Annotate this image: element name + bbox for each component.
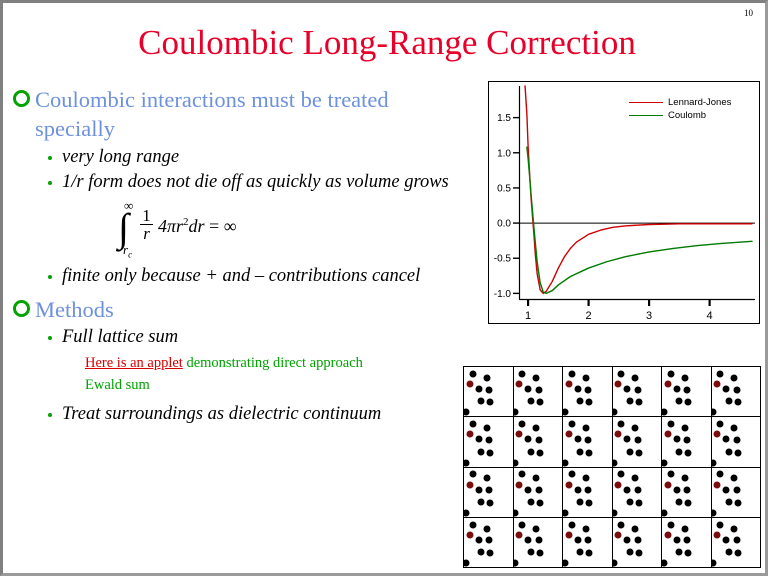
lattice-cell bbox=[514, 518, 564, 568]
atom bbox=[712, 409, 717, 416]
tagged-atom bbox=[565, 531, 572, 538]
atom bbox=[676, 448, 683, 455]
atom bbox=[486, 487, 493, 494]
atom bbox=[618, 521, 625, 528]
atom bbox=[723, 386, 730, 393]
x-axis-tick-label: 2 bbox=[586, 310, 592, 322]
atom bbox=[563, 509, 568, 516]
atom bbox=[536, 550, 543, 557]
lattice-cell bbox=[662, 417, 712, 467]
atom bbox=[613, 509, 618, 516]
lattice-cell bbox=[514, 417, 564, 467]
bullet-level2-label: Full lattice sum bbox=[62, 326, 178, 349]
atom bbox=[586, 550, 593, 557]
potential-energy-chart: 1.51.00.50.0-0.5-1.01234 Lennard-JonesCo… bbox=[488, 81, 760, 324]
tagged-atom bbox=[516, 531, 523, 538]
bullet-level1-methods: Methods bbox=[13, 295, 463, 324]
atom bbox=[585, 537, 592, 544]
atom bbox=[514, 560, 519, 567]
tagged-atom bbox=[565, 381, 572, 388]
atom bbox=[635, 499, 642, 506]
atom bbox=[475, 486, 482, 493]
atom bbox=[514, 459, 519, 466]
atom bbox=[525, 486, 532, 493]
ring-bullet-icon bbox=[13, 90, 30, 107]
equation-term: 4πr bbox=[158, 216, 183, 236]
atom bbox=[717, 521, 724, 528]
atom bbox=[478, 448, 485, 455]
atom bbox=[514, 509, 519, 516]
atom bbox=[535, 436, 542, 443]
atom bbox=[487, 550, 494, 557]
atom bbox=[733, 386, 740, 393]
tagged-atom bbox=[615, 431, 622, 438]
atom bbox=[527, 549, 534, 556]
atom bbox=[533, 425, 540, 432]
atom bbox=[586, 399, 593, 406]
atom bbox=[618, 471, 625, 478]
legend-color-swatch bbox=[629, 115, 663, 116]
periodic-replica-lattice bbox=[463, 366, 761, 568]
lattice-cell bbox=[662, 468, 712, 518]
atom bbox=[577, 549, 584, 556]
atom bbox=[585, 386, 592, 393]
tagged-atom bbox=[615, 481, 622, 488]
atom bbox=[667, 421, 674, 428]
atom bbox=[577, 448, 584, 455]
chart-legend: Lennard-JonesCoulomb bbox=[629, 96, 731, 122]
atom bbox=[676, 498, 683, 505]
y-axis-tick-label: -1.0 bbox=[494, 289, 512, 300]
atom bbox=[734, 550, 741, 557]
lattice-cell bbox=[613, 468, 663, 518]
atom bbox=[733, 436, 740, 443]
atom bbox=[475, 436, 482, 443]
tagged-atom bbox=[516, 481, 523, 488]
atom bbox=[582, 425, 589, 432]
lattice-cell bbox=[662, 367, 712, 417]
atom bbox=[563, 409, 568, 416]
atom bbox=[478, 549, 485, 556]
atom bbox=[536, 499, 543, 506]
atom bbox=[725, 498, 732, 505]
dot-bullet-icon bbox=[48, 181, 52, 185]
atom bbox=[519, 471, 526, 478]
atom bbox=[535, 386, 542, 393]
lattice-cell bbox=[563, 417, 613, 467]
equation-result: ∞ bbox=[224, 216, 237, 236]
bullet-level1-coulombic: Coulombic interactions must be treated s… bbox=[13, 85, 463, 144]
tagged-atom bbox=[714, 481, 721, 488]
atom bbox=[624, 486, 631, 493]
atom bbox=[582, 374, 589, 381]
atom bbox=[723, 486, 730, 493]
tagged-atom bbox=[714, 531, 721, 538]
atom bbox=[487, 449, 494, 456]
atom bbox=[634, 537, 641, 544]
equation-lower-limit: rc bbox=[123, 242, 132, 260]
atom bbox=[684, 487, 691, 494]
atom bbox=[635, 550, 642, 557]
atom bbox=[568, 471, 575, 478]
atom bbox=[582, 525, 589, 532]
atom bbox=[667, 370, 674, 377]
bullet-level2-label: finite only because + and – contribution… bbox=[62, 265, 420, 288]
atom bbox=[733, 487, 740, 494]
atom bbox=[574, 386, 581, 393]
bullet-level2-label: Treat surroundings as dielectric continu… bbox=[62, 403, 381, 426]
tagged-atom bbox=[565, 431, 572, 438]
atom bbox=[685, 449, 692, 456]
applet-line: Here is an applet demonstrating direct a… bbox=[13, 352, 463, 374]
bullet-level1-label: Methods bbox=[35, 295, 114, 324]
atom bbox=[725, 549, 732, 556]
tagged-atom bbox=[615, 381, 622, 388]
applet-hyperlink[interactable]: Here is an applet bbox=[85, 355, 183, 371]
atom bbox=[731, 475, 738, 482]
dot-bullet-icon bbox=[48, 275, 52, 279]
atom bbox=[586, 499, 593, 506]
atom bbox=[626, 398, 633, 405]
atom bbox=[535, 487, 542, 494]
atom bbox=[574, 436, 581, 443]
tagged-atom bbox=[466, 381, 473, 388]
atom bbox=[525, 536, 532, 543]
atom bbox=[723, 536, 730, 543]
atom bbox=[577, 498, 584, 505]
lattice-cell bbox=[514, 468, 564, 518]
legend-item: Lennard-Jones bbox=[629, 96, 731, 109]
legend-color-swatch bbox=[629, 102, 663, 103]
atom bbox=[486, 537, 493, 544]
lattice-cell bbox=[514, 367, 564, 417]
legend-item: Coulomb bbox=[629, 109, 731, 122]
page-title: Coulombic Long-Range Correction bbox=[3, 23, 768, 63]
atom bbox=[533, 525, 540, 532]
atom bbox=[519, 370, 526, 377]
atom bbox=[717, 370, 724, 377]
atom bbox=[624, 386, 631, 393]
atom bbox=[685, 550, 692, 557]
atom bbox=[712, 509, 717, 516]
tagged-atom bbox=[516, 431, 523, 438]
atom bbox=[533, 475, 540, 482]
x-axis-tick-label: 3 bbox=[646, 310, 652, 322]
atom bbox=[618, 421, 625, 428]
lattice-cell bbox=[563, 367, 613, 417]
applet-line-rest: demonstrating direct approach bbox=[183, 355, 363, 371]
atom bbox=[626, 448, 633, 455]
atom bbox=[681, 525, 688, 532]
y-axis-tick-label: -0.5 bbox=[494, 254, 512, 265]
series-line-coulomb bbox=[527, 147, 752, 293]
atom bbox=[662, 509, 667, 516]
atom bbox=[469, 521, 476, 528]
atom bbox=[734, 399, 741, 406]
atom bbox=[464, 560, 469, 567]
lattice-cell bbox=[712, 417, 762, 467]
atom bbox=[681, 374, 688, 381]
atom bbox=[563, 560, 568, 567]
lattice-cell bbox=[712, 367, 762, 417]
atom bbox=[574, 486, 581, 493]
atom bbox=[624, 436, 631, 443]
y-axis-tick-label: 0.5 bbox=[497, 183, 511, 194]
atom bbox=[624, 536, 631, 543]
atom bbox=[478, 398, 485, 405]
lattice-cell bbox=[662, 518, 712, 568]
equation-fraction: 1 r bbox=[140, 207, 153, 243]
atom bbox=[586, 449, 593, 456]
slide-body: Coulombic interactions must be treated s… bbox=[13, 85, 463, 428]
atom bbox=[731, 374, 738, 381]
atom bbox=[685, 499, 692, 506]
atom bbox=[527, 398, 534, 405]
atom bbox=[673, 536, 680, 543]
atom bbox=[731, 525, 738, 532]
atom bbox=[673, 486, 680, 493]
atom bbox=[676, 549, 683, 556]
ewald-sum-line: Ewald sum bbox=[13, 374, 463, 396]
tagged-atom bbox=[664, 531, 671, 538]
legend-label: Coulomb bbox=[668, 110, 706, 121]
atom bbox=[676, 398, 683, 405]
atom bbox=[662, 560, 667, 567]
lattice-cell bbox=[563, 468, 613, 518]
atom bbox=[469, 471, 476, 478]
atom bbox=[733, 537, 740, 544]
lattice-cell bbox=[613, 367, 663, 417]
bullet-level2-one-over-r: 1/r form does not die off as quickly as … bbox=[13, 171, 463, 194]
atom bbox=[684, 436, 691, 443]
atom bbox=[563, 459, 568, 466]
atom bbox=[464, 409, 469, 416]
equation-numerator: 1 bbox=[140, 207, 153, 224]
tagged-atom bbox=[466, 431, 473, 438]
atom bbox=[464, 459, 469, 466]
atom bbox=[632, 525, 639, 532]
tagged-atom bbox=[615, 531, 622, 538]
atom bbox=[525, 386, 532, 393]
bullet-level2-label: very long range bbox=[62, 146, 179, 169]
tagged-atom bbox=[714, 381, 721, 388]
atom bbox=[673, 436, 680, 443]
atom bbox=[486, 436, 493, 443]
atom bbox=[723, 436, 730, 443]
atom bbox=[634, 487, 641, 494]
atom bbox=[626, 498, 633, 505]
tagged-atom bbox=[664, 481, 671, 488]
atom bbox=[667, 471, 674, 478]
atom bbox=[662, 459, 667, 466]
lattice-cell bbox=[613, 518, 663, 568]
atom bbox=[731, 425, 738, 432]
atom bbox=[483, 374, 490, 381]
equation-differential: dr bbox=[189, 216, 205, 236]
tagged-atom bbox=[714, 431, 721, 438]
atom bbox=[568, 521, 575, 528]
equation-equals: = bbox=[209, 216, 219, 236]
atom bbox=[475, 536, 482, 543]
atom bbox=[685, 399, 692, 406]
dot-bullet-icon bbox=[48, 156, 52, 160]
atom bbox=[725, 448, 732, 455]
atom bbox=[535, 537, 542, 544]
integral-equation: ∞ ∫ rc 1 r 4πr2dr = ∞ bbox=[118, 202, 463, 257]
atom bbox=[469, 370, 476, 377]
equation-body: 4πr2dr = ∞ bbox=[158, 216, 237, 237]
lattice-cell bbox=[464, 468, 514, 518]
lattice-cell bbox=[464, 417, 514, 467]
atom bbox=[684, 537, 691, 544]
atom bbox=[681, 475, 688, 482]
atom bbox=[519, 521, 526, 528]
atom bbox=[635, 449, 642, 456]
atom bbox=[568, 370, 575, 377]
atom bbox=[464, 509, 469, 516]
atom bbox=[582, 475, 589, 482]
atom bbox=[533, 374, 540, 381]
lattice-cell bbox=[613, 417, 663, 467]
atom bbox=[574, 536, 581, 543]
bullet-level2-dielectric-continuum: Treat surroundings as dielectric continu… bbox=[13, 403, 463, 426]
tagged-atom bbox=[466, 481, 473, 488]
slide-canvas: 10 Coulombic Long-Range Correction Coulo… bbox=[0, 0, 768, 576]
atom bbox=[585, 436, 592, 443]
atom bbox=[662, 409, 667, 416]
atom bbox=[478, 498, 485, 505]
atom bbox=[634, 436, 641, 443]
atom bbox=[613, 459, 618, 466]
atom bbox=[632, 475, 639, 482]
atom bbox=[634, 386, 641, 393]
atom bbox=[717, 471, 724, 478]
atom bbox=[734, 499, 741, 506]
bullet-level1-label: Coulombic interactions must be treated s… bbox=[35, 85, 463, 144]
atom bbox=[536, 449, 543, 456]
equation-denominator: r bbox=[140, 225, 153, 243]
atom bbox=[527, 448, 534, 455]
bullet-level2-very-long-range: very long range bbox=[13, 146, 463, 169]
atom bbox=[483, 525, 490, 532]
y-axis-tick-label: 1.5 bbox=[497, 113, 511, 124]
tagged-atom bbox=[565, 481, 572, 488]
ring-bullet-icon bbox=[13, 300, 30, 317]
atom bbox=[536, 399, 543, 406]
atom bbox=[632, 425, 639, 432]
atom bbox=[734, 449, 741, 456]
atom bbox=[487, 499, 494, 506]
atom bbox=[568, 421, 575, 428]
x-axis-tick-label: 1 bbox=[525, 310, 531, 322]
tagged-atom bbox=[516, 381, 523, 388]
dot-bullet-icon bbox=[48, 336, 52, 340]
atom bbox=[667, 521, 674, 528]
atom bbox=[613, 560, 618, 567]
lattice-cell bbox=[464, 518, 514, 568]
atom bbox=[469, 421, 476, 428]
atom bbox=[681, 425, 688, 432]
atom bbox=[635, 399, 642, 406]
atom bbox=[514, 409, 519, 416]
atom bbox=[632, 374, 639, 381]
atom bbox=[487, 399, 494, 406]
atom bbox=[725, 398, 732, 405]
lattice-cell bbox=[563, 518, 613, 568]
bullet-level2-finite-only: finite only because + and – contribution… bbox=[13, 265, 463, 288]
lattice-cell bbox=[712, 468, 762, 518]
page-number: 10 bbox=[744, 8, 753, 18]
equation-lower-limit-sub: c bbox=[128, 250, 132, 260]
bullet-level2-label: 1/r form does not die off as quickly as … bbox=[62, 171, 449, 194]
tagged-atom bbox=[664, 431, 671, 438]
atom bbox=[577, 398, 584, 405]
y-axis-tick-label: 1.0 bbox=[497, 148, 511, 159]
atom bbox=[684, 386, 691, 393]
lattice-cell bbox=[712, 518, 762, 568]
atom bbox=[483, 475, 490, 482]
atom bbox=[486, 386, 493, 393]
atom bbox=[626, 549, 633, 556]
dot-bullet-icon bbox=[48, 413, 52, 417]
lattice-cell bbox=[464, 367, 514, 417]
atom bbox=[613, 409, 618, 416]
atom bbox=[475, 386, 482, 393]
x-axis-tick-label: 4 bbox=[707, 310, 713, 322]
atom bbox=[527, 498, 534, 505]
y-axis-tick-label: 0.0 bbox=[497, 219, 511, 230]
atom bbox=[525, 436, 532, 443]
atom bbox=[712, 459, 717, 466]
tagged-atom bbox=[466, 531, 473, 538]
atom bbox=[717, 421, 724, 428]
atom bbox=[673, 386, 680, 393]
tagged-atom bbox=[664, 381, 671, 388]
legend-label: Lennard-Jones bbox=[668, 97, 731, 108]
atom bbox=[712, 560, 717, 567]
atom bbox=[483, 425, 490, 432]
bullet-level2-full-lattice-sum: Full lattice sum bbox=[13, 326, 463, 349]
atom bbox=[618, 370, 625, 377]
atom bbox=[519, 421, 526, 428]
atom bbox=[585, 487, 592, 494]
